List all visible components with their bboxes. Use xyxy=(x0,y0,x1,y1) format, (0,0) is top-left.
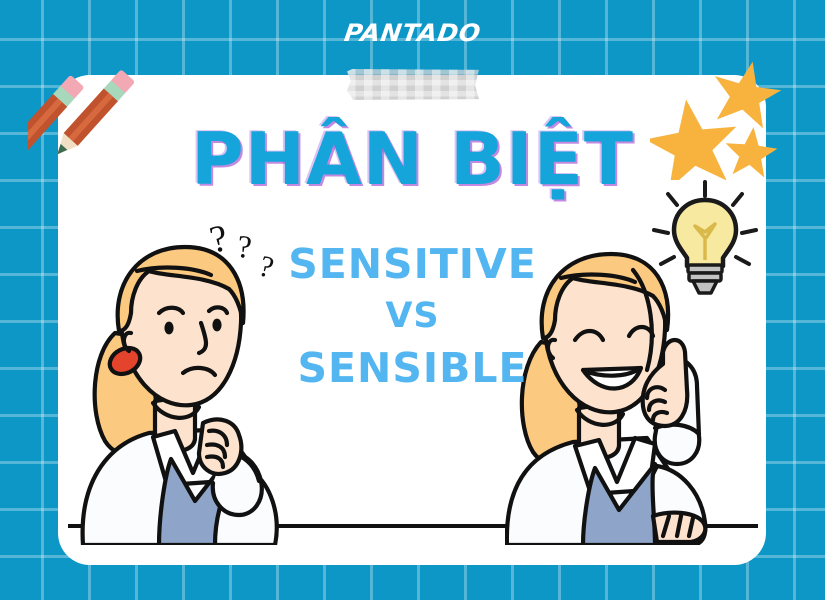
pencils-icon xyxy=(28,52,148,177)
lightbulb-decoration xyxy=(648,180,763,300)
svg-text:?: ? xyxy=(206,217,231,262)
stars-icon xyxy=(650,55,785,180)
brand-logo-text: PANTADO xyxy=(342,19,482,47)
question-marks-decoration: ? ? ? xyxy=(205,212,295,284)
star-icon xyxy=(723,124,780,178)
lightbulb-icon xyxy=(648,180,763,300)
brand-logo: PANTADO xyxy=(0,19,825,47)
svg-text:?: ? xyxy=(236,228,254,265)
washi-tape xyxy=(347,69,479,100)
question-marks-icon: ? ? ? xyxy=(205,212,295,284)
subtitle-line-3: SENSIBLE xyxy=(0,342,825,394)
page-title-text: PHÂN BIỆT xyxy=(191,120,634,198)
stars-decoration xyxy=(650,55,785,180)
pencils-decoration xyxy=(28,52,148,177)
svg-text:?: ? xyxy=(255,249,277,284)
star-icon xyxy=(706,55,785,131)
